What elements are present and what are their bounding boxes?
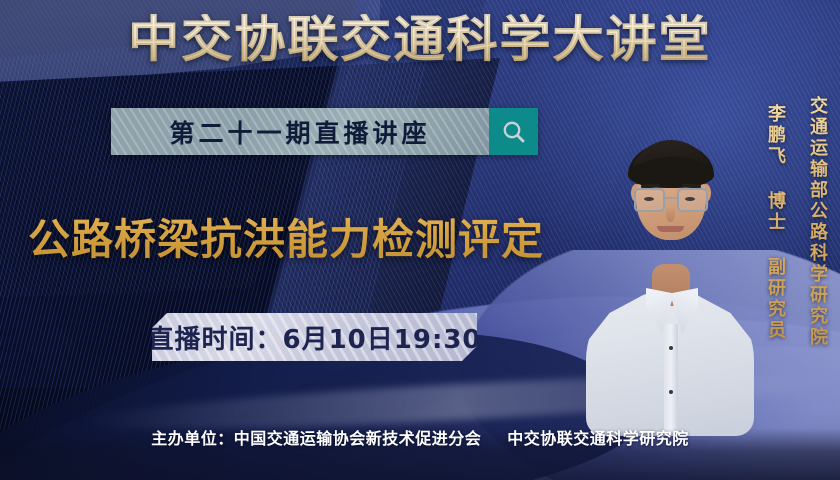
episode-banner: 第二十一期直播讲座 bbox=[111, 108, 538, 155]
organizer-prefix: 主办单位： bbox=[151, 429, 234, 448]
portrait-mouth bbox=[657, 226, 684, 232]
livestream-time-text: 直播时间：6月10日19:30 bbox=[152, 319, 477, 356]
speaker-organization: 交通运输部公路科学研究院 bbox=[804, 96, 830, 348]
portrait-shirt-button bbox=[669, 390, 673, 394]
episode-label: 第二十一期直播讲座 bbox=[169, 114, 430, 150]
organizer-primary: 中国交通运输协会新技术促进分会 bbox=[234, 429, 482, 448]
portrait-shirt-placket bbox=[664, 324, 678, 436]
episode-banner-body: 第二十一期直播讲座 bbox=[111, 108, 489, 155]
organizer-secondary: 中交协联交通科学研究院 bbox=[507, 429, 689, 448]
search-icon-tile[interactable] bbox=[489, 108, 538, 155]
search-icon bbox=[501, 119, 527, 145]
portrait-glasses-bridge bbox=[665, 197, 677, 199]
portrait-shirt-button bbox=[669, 346, 673, 350]
portrait-nose bbox=[666, 206, 675, 222]
livestream-time-banner: 直播时间：6月10日19:30 bbox=[152, 313, 477, 361]
speaker-name-title: 李鹏飞 博士 副研究员 bbox=[762, 104, 788, 341]
organizer-footer: 主办单位：中国交通运输协会新技术促进分会中交协联交通科学研究院 bbox=[0, 425, 840, 449]
portrait-lens-left bbox=[634, 188, 665, 212]
lecture-title: 公路桥梁抗洪能力检测评定 bbox=[28, 206, 544, 267]
livestream-poster: 中交协联交通科学大讲堂 第二十一期直播讲座 公路桥梁抗洪能力检测评定 直播时间：… bbox=[0, 0, 840, 480]
page-title: 中交协联交通科学大讲堂 bbox=[0, 14, 840, 67]
portrait-lens-right bbox=[677, 188, 708, 212]
speaker-portrait bbox=[596, 118, 742, 418]
